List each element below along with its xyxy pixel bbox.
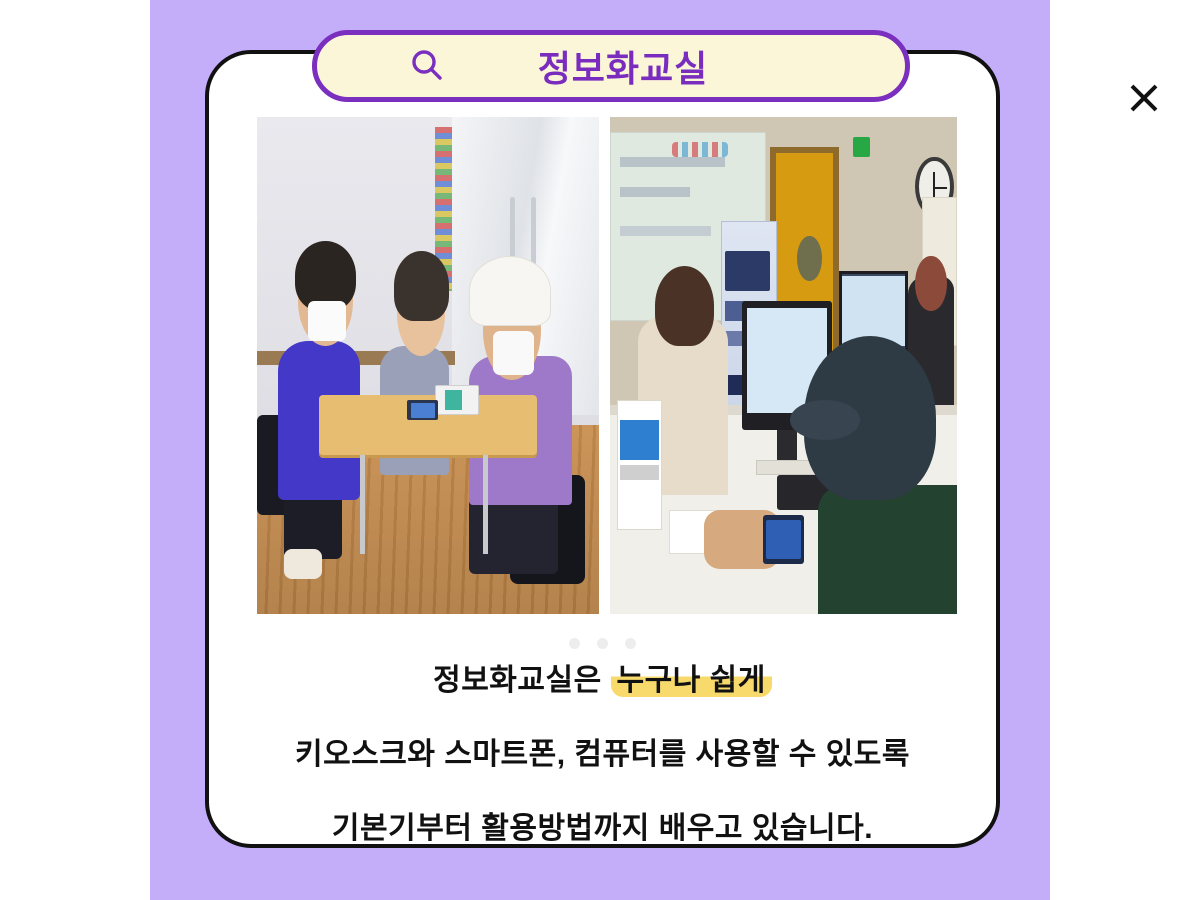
close-button[interactable] (1126, 80, 1162, 116)
photo-person-seated-right-head (915, 256, 946, 311)
caption-block: 정보화교실은 누구나 쉽게 키오스크와 스마트폰, 컴퓨터를 사용할 수 있도록… (209, 666, 996, 844)
carousel-dot-1[interactable] (569, 638, 580, 649)
caption-line-1: 정보화교실은 누구나 쉽게 (209, 666, 996, 696)
caption-line-2: 키오스크와 스마트폰, 컴퓨터를 사용할 수 있도록 (209, 740, 996, 770)
photo-table-standee-title (620, 420, 658, 460)
photo-projection-text-line-2 (620, 187, 689, 197)
carousel-dot-2[interactable] (597, 638, 608, 649)
photo-person-beige-top-head (655, 266, 714, 346)
photo-tablet-screen (445, 390, 462, 410)
photo-clock-hand-minute (933, 187, 947, 189)
photo-smartphone-screen (766, 520, 801, 560)
photo-gallery (257, 117, 957, 614)
photo-cap-brim (790, 400, 859, 440)
photo-banner-title (725, 251, 770, 291)
photo-person-student-b-mask (493, 331, 534, 376)
caption-line-3: 기본기부터 활용방법까지 배우고 있습니다. (209, 814, 996, 844)
photo-person-green-shirt (818, 485, 957, 614)
photo-door-emblem (797, 236, 821, 281)
photo-projection-text-line-3 (620, 226, 710, 236)
photo-table-leg (360, 455, 365, 554)
close-icon (1126, 80, 1162, 116)
caption-line-1-plain: 정보화교실은 (433, 664, 610, 697)
gallery-photo-computer-classroom[interactable] (610, 117, 957, 614)
page-title: 정보화교실 (317, 40, 905, 92)
photo-table-leg-2 (483, 455, 488, 554)
photo-smartphone-screen (411, 403, 435, 418)
photo-exit-sign (853, 137, 870, 157)
photo-person-student-a-hair (394, 251, 449, 321)
photo-clock-hand-hour (933, 172, 935, 197)
search-title-bar[interactable]: 정보화교실 (312, 30, 910, 102)
content-card: 정보화교실은 누구나 쉽게 키오스크와 스마트폰, 컴퓨터를 사용할 수 있도록… (205, 50, 1000, 848)
photo-person-instructor-shoe (284, 549, 322, 579)
photo-table-standee-text (620, 465, 658, 480)
photo-projection-icons (672, 142, 728, 157)
photo-projection-text-line (620, 157, 724, 167)
gallery-photo-classroom-smartphone-lesson[interactable] (257, 117, 599, 614)
carousel-dot-3[interactable] (625, 638, 636, 649)
caption-line-1-highlight: 누구나 쉽게 (611, 664, 772, 697)
photo-person-student-b-cap (469, 256, 551, 326)
screen-root: 정보화교실은 누구나 쉽게 키오스크와 스마트폰, 컴퓨터를 사용할 수 있도록… (0, 0, 1200, 900)
carousel-dots[interactable] (209, 638, 996, 649)
photo-person-instructor-mask (308, 301, 346, 341)
